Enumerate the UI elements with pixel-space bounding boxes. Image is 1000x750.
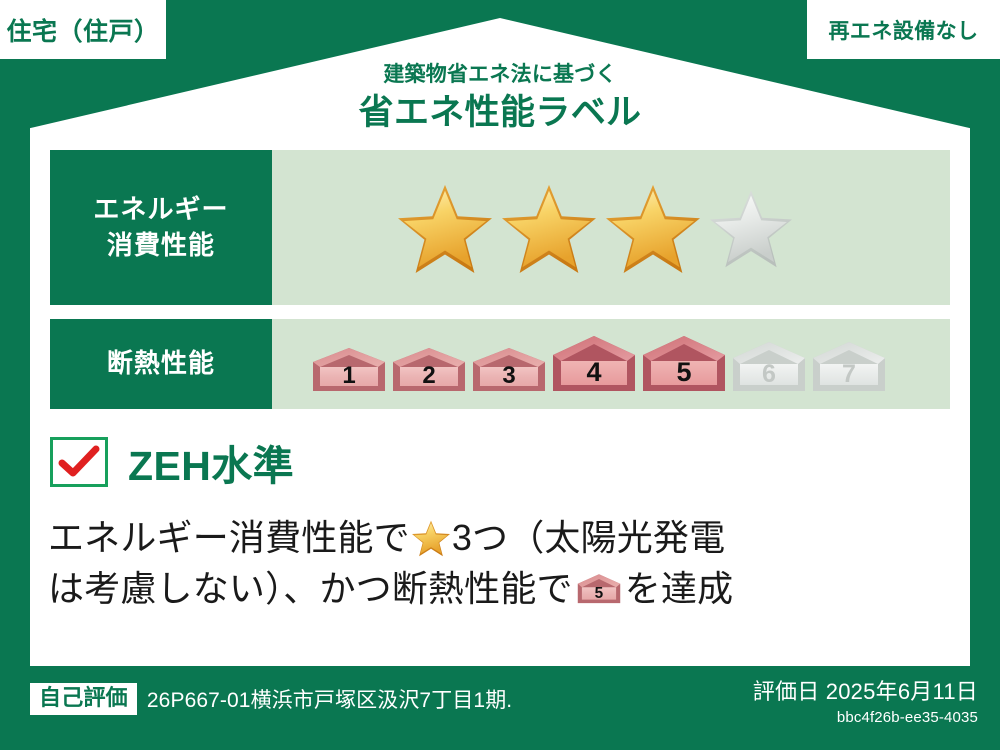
inline-house-value: 5 — [594, 585, 603, 602]
header-subtitle: 建築物省エネ法に基づく — [0, 62, 1000, 88]
description-line2-part2: を達成 — [625, 563, 734, 614]
row-energy-label-line2: 消費性能 — [107, 230, 215, 260]
star-rating — [396, 181, 794, 275]
check-icon — [58, 445, 100, 479]
evaluation-date: 評価日 2025年6月11日 — [753, 674, 978, 706]
badge-self-evaluation: 自己評価 — [30, 683, 137, 715]
label-uuid: bbc4f26b-ee35-4035 — [753, 709, 978, 726]
page-title: 省エネ性能ラベル — [0, 90, 1000, 136]
star-icon-inline — [411, 519, 451, 557]
insulation-level-1: 1 — [310, 345, 388, 395]
zeh-checkbox[interactable] — [50, 437, 108, 487]
svg-text:6: 6 — [762, 360, 776, 388]
footer: 自己評価 26P667-01横浜市戸塚区汲沢7丁目1期. 評価日 2025年6月… — [0, 666, 1000, 750]
insulation-level-2: 2 — [390, 345, 468, 395]
star-icon-filled-1 — [396, 181, 494, 275]
row-insulation-performance: 断熱性能 1 2 3 — [50, 319, 950, 409]
badge-housing-type: 住宅（住戸） — [0, 0, 166, 59]
zeh-label: ZEH水準 — [128, 432, 294, 492]
svg-text:4: 4 — [586, 357, 601, 387]
header: 建築物省エネ法に基づく 省エネ性能ラベル — [0, 62, 1000, 136]
insulation-level-scale: 1 2 3 4 — [310, 333, 888, 395]
insulation-level-3: 3 — [470, 345, 548, 395]
insulation-level-4: 4 — [550, 333, 638, 395]
row-energy-label-line1: エネルギー — [93, 194, 228, 224]
property-address: 26P667-01横浜市戸塚区汲沢7丁目1期. — [147, 684, 512, 714]
description-text: エネルギー消費性能で 3つ（太陽光発電 は考慮しない）、かつ断熱性能で 5 を達… — [48, 512, 938, 614]
insulation-level-5: 5 — [640, 333, 728, 395]
footer-right: 評価日 2025年6月11日 bbc4f26b-ee35-4035 — [753, 674, 978, 726]
svg-text:7: 7 — [842, 360, 856, 388]
svg-text:1: 1 — [342, 362, 355, 389]
badge-renewable-equipment: 再エネ設備なし — [807, 0, 1000, 59]
insulation-level-6: 6 — [730, 339, 808, 395]
insulation-level-7: 7 — [810, 339, 888, 395]
footer-left: 自己評価 26P667-01横浜市戸塚区汲沢7丁目1期. — [30, 683, 512, 715]
metrics-table: エネルギー 消費性能 — [50, 150, 950, 423]
description-line-2: は考慮しない）、かつ断熱性能で 5 を達成 — [48, 563, 938, 614]
row-insulation-label: 断熱性能 — [50, 319, 272, 409]
insulation-house-icon-inline: 5 — [576, 569, 622, 609]
star-icon-filled-2 — [500, 181, 598, 275]
svg-text:3: 3 — [502, 362, 515, 389]
star-icon-empty-4 — [708, 187, 794, 269]
description-line1-part2: 3つ（太陽光発電 — [452, 512, 725, 563]
star-icon-filled-3 — [604, 181, 702, 275]
svg-text:5: 5 — [676, 357, 691, 387]
row-energy-body — [272, 150, 950, 305]
zeh-standard-row: ZEH水準 — [50, 432, 294, 492]
row-insulation-body: 1 2 3 4 — [272, 319, 950, 409]
description-line2-part1: は考慮しない）、かつ断熱性能で — [48, 563, 573, 614]
row-energy-performance: エネルギー 消費性能 — [50, 150, 950, 305]
row-energy-label: エネルギー 消費性能 — [50, 150, 272, 305]
description-line-1: エネルギー消費性能で 3つ（太陽光発電 — [48, 512, 938, 563]
svg-text:2: 2 — [422, 362, 435, 389]
description-line1-part1: エネルギー消費性能で — [48, 512, 410, 563]
